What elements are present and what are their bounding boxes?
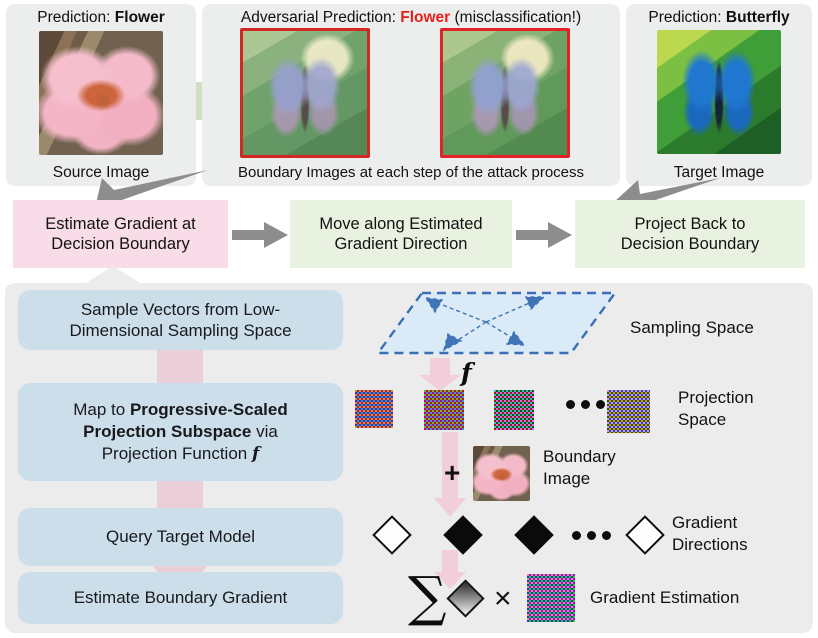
- multiplication-symbol: ×: [494, 584, 512, 614]
- step-project-back-line2: Decision Boundary: [621, 235, 760, 253]
- gradient-estimation-noise-patch: [527, 574, 575, 622]
- adversarial-prediction-caption: Adversarial Prediction: Flower (misclass…: [202, 10, 620, 26]
- adversarial-panel: Adversarial Prediction: Flower (misclass…: [202, 4, 620, 186]
- step-move-along-gradient-line2: Gradient Direction: [335, 235, 468, 253]
- projection-noise-patch-3: [494, 390, 534, 430]
- adversarial-prediction-value: Flower: [400, 9, 450, 26]
- step-move-along-gradient-line1: Move along Estimated: [319, 215, 482, 233]
- boundary-image-thumbnail: [473, 446, 530, 501]
- source-prediction-prefix: Prediction:: [37, 9, 115, 26]
- boundary-image-label-line2: Image: [543, 469, 590, 488]
- source-prediction-value: Flower: [115, 9, 165, 26]
- map-bold-2: Projection Subspace: [83, 422, 251, 441]
- adversarial-images-label: Boundary Images at each step of the atta…: [202, 165, 620, 181]
- map-bold-1: Progressive-Scaled: [130, 400, 288, 419]
- adversarial-prediction-prefix: Adversarial Prediction:: [241, 9, 400, 26]
- adversarial-boundary-image-2: [440, 28, 570, 158]
- adversarial-prediction-suffix: (misclassification!): [450, 9, 581, 26]
- target-prediction-caption: Prediction: Butterfly: [626, 10, 812, 26]
- projection-noise-patch-4: [607, 390, 650, 433]
- projection-noise-patch-1: [355, 390, 393, 428]
- gradient-directions-label-line1: Gradient: [672, 513, 737, 532]
- gradient-directions-label: Gradient Directions: [672, 512, 748, 556]
- gradient-estimation-label: Gradient Estimation: [590, 587, 739, 608]
- map-via: via: [251, 422, 277, 441]
- source-image-photo: [39, 31, 163, 155]
- plus-sign-boundary-image: +: [444, 459, 460, 487]
- target-image-panel: Prediction: Butterfly Target Image: [626, 4, 812, 186]
- step-project-back[interactable]: Project Back to Decision Boundary: [575, 200, 805, 268]
- summation-symbol: ∑: [408, 570, 447, 624]
- sampling-space-label: Sampling Space: [630, 317, 754, 338]
- projection-space-label: Projection Space: [678, 387, 754, 431]
- gradient-directions-label-line2: Directions: [672, 535, 748, 554]
- projection-space-ellipsis: [566, 400, 605, 409]
- gray-arrow-step2-to-step3: [516, 222, 574, 248]
- gradient-directions-ellipsis: [572, 531, 611, 540]
- gray-arrow-step1-to-step2: [232, 222, 290, 248]
- step-move-along-gradient[interactable]: Move along Estimated Gradient Direction: [290, 200, 512, 268]
- bluebox-sample-vectors-line1: Sample Vectors from Low-: [81, 300, 280, 319]
- projection-space-label-line2: Space: [678, 410, 726, 429]
- source-prediction-caption: Prediction: Flower: [6, 10, 196, 26]
- bluebox-estimate-boundary-gradient[interactable]: Estimate Boundary Gradient: [18, 572, 343, 624]
- bluebox-query-target-model-label: Query Target Model: [106, 526, 255, 547]
- bluebox-estimate-boundary-gradient-label: Estimate Boundary Gradient: [74, 587, 288, 608]
- adversarial-boundary-image-1: [240, 28, 370, 158]
- projection-space-label-line1: Projection: [678, 388, 754, 407]
- target-prediction-prefix: Prediction:: [648, 9, 726, 26]
- projection-function-symbol: f: [461, 358, 472, 387]
- boundary-image-label: Boundary Image: [543, 446, 616, 490]
- source-image-panel: Prediction: Flower Source Image: [6, 4, 196, 186]
- map-function-symbol: f: [252, 444, 259, 464]
- projection-noise-patch-2: [424, 390, 464, 430]
- step-estimate-gradient[interactable]: Estimate Gradient at Decision Boundary: [13, 200, 228, 268]
- bluebox-sample-vectors-line2: Dimensional Sampling Space: [69, 321, 291, 340]
- step-estimate-gradient-line1: Estimate Gradient at: [45, 215, 195, 233]
- bluebox-sample-vectors[interactable]: Sample Vectors from Low- Dimensional Sam…: [18, 290, 343, 350]
- target-prediction-value: Butterfly: [726, 9, 790, 26]
- step-project-back-line1: Project Back to: [635, 215, 746, 233]
- boundary-image-label-line1: Boundary: [543, 447, 616, 466]
- map-function-text: Projection Function: [102, 444, 252, 463]
- bluebox-map-to-projection-subspace[interactable]: Map to Progressive-Scaled Projection Sub…: [18, 383, 343, 481]
- bluebox-query-target-model[interactable]: Query Target Model: [18, 508, 343, 566]
- sampling-space-diagram: [374, 289, 619, 359]
- pink-arrow-projection-function: [417, 358, 463, 392]
- map-prefix: Map to: [73, 400, 130, 419]
- target-image-photo: [657, 30, 781, 154]
- step-estimate-gradient-line2: Decision Boundary: [51, 235, 190, 253]
- panel-connector-notch: [78, 266, 148, 288]
